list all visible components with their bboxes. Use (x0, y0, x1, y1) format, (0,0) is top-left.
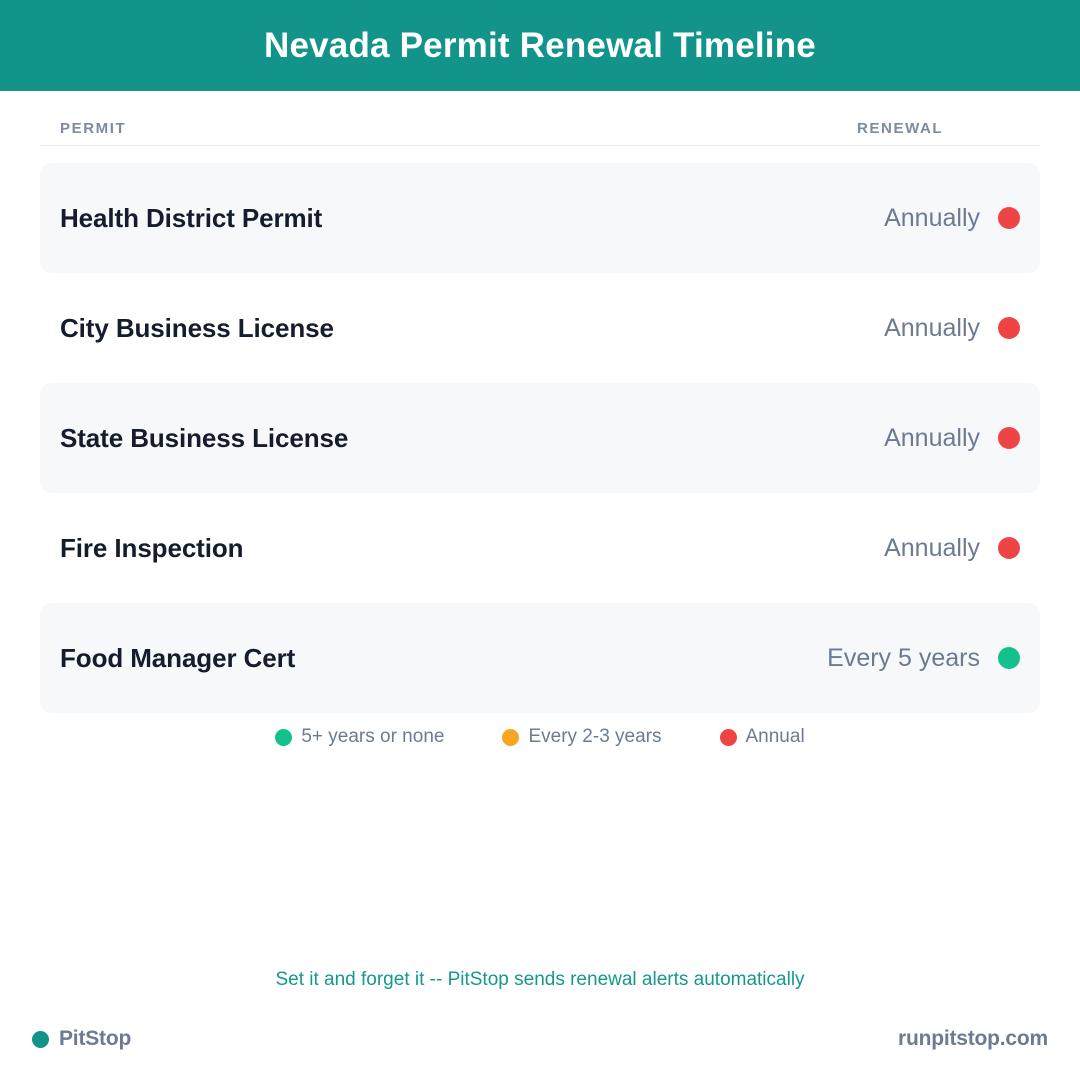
status-dot-icon (998, 537, 1020, 559)
infographic-page: Nevada Permit Renewal Timeline PERMIT RE… (0, 0, 1080, 1080)
legend-label: Every 2-3 years (528, 726, 661, 748)
renewal-frequency: Annually (884, 204, 980, 233)
status-dot-icon (998, 427, 1020, 449)
legend: 5+ years or noneEvery 2-3 yearsAnnual (0, 726, 1080, 748)
column-header-renewal: RENEWAL (857, 120, 943, 137)
renewal-frequency: Annually (884, 314, 980, 343)
status-dot-icon (998, 647, 1020, 669)
brand-name: PitStop (59, 1027, 131, 1051)
permit-name: City Business License (60, 313, 884, 344)
renewal-frequency: Annually (884, 424, 980, 453)
brand-dot-icon (32, 1031, 49, 1048)
legend-label: 5+ years or none (301, 726, 444, 748)
legend-dot-icon (275, 729, 292, 746)
table-rows: Health District PermitAnnuallyCity Busin… (40, 163, 1040, 713)
renewal-cell: Annually (884, 424, 1020, 453)
legend-item: 5+ years or none (275, 726, 444, 748)
permit-name: Fire Inspection (60, 533, 884, 564)
renewal-cell: Annually (884, 534, 1020, 563)
table-row: Food Manager CertEvery 5 years (40, 603, 1040, 713)
legend-item: Annual (720, 726, 805, 748)
permit-table: PERMIT RENEWAL Health District PermitAnn… (40, 104, 1040, 713)
table-row: City Business LicenseAnnually (40, 273, 1040, 383)
legend-label: Annual (746, 726, 805, 748)
table-row: Fire InspectionAnnually (40, 493, 1040, 603)
status-dot-icon (998, 207, 1020, 229)
header-divider (40, 145, 1040, 146)
legend-dot-icon (720, 729, 737, 746)
legend-dot-icon (502, 729, 519, 746)
table-row: State Business LicenseAnnually (40, 383, 1040, 493)
renewal-frequency: Every 5 years (827, 644, 980, 673)
renewal-cell: Every 5 years (827, 644, 1020, 673)
table-row: Health District PermitAnnually (40, 163, 1040, 273)
page-title: Nevada Permit Renewal Timeline (264, 28, 816, 63)
legend-item: Every 2-3 years (502, 726, 661, 748)
site-url: runpitstop.com (898, 1027, 1048, 1051)
column-header-permit: PERMIT (60, 120, 126, 137)
permit-name: Food Manager Cert (60, 643, 827, 674)
footer-tagline: Set it and forget it -- PitStop sends re… (0, 969, 1080, 991)
header-bar: Nevada Permit Renewal Timeline (0, 0, 1080, 91)
brand: PitStop (32, 1027, 131, 1051)
renewal-cell: Annually (884, 314, 1020, 343)
status-dot-icon (998, 317, 1020, 339)
table-column-headers: PERMIT RENEWAL (40, 104, 1040, 145)
permit-name: State Business License (60, 423, 884, 454)
renewal-frequency: Annually (884, 534, 980, 563)
permit-name: Health District Permit (60, 203, 884, 234)
footer-bar: PitStop runpitstop.com (0, 1022, 1080, 1056)
renewal-cell: Annually (884, 204, 1020, 233)
